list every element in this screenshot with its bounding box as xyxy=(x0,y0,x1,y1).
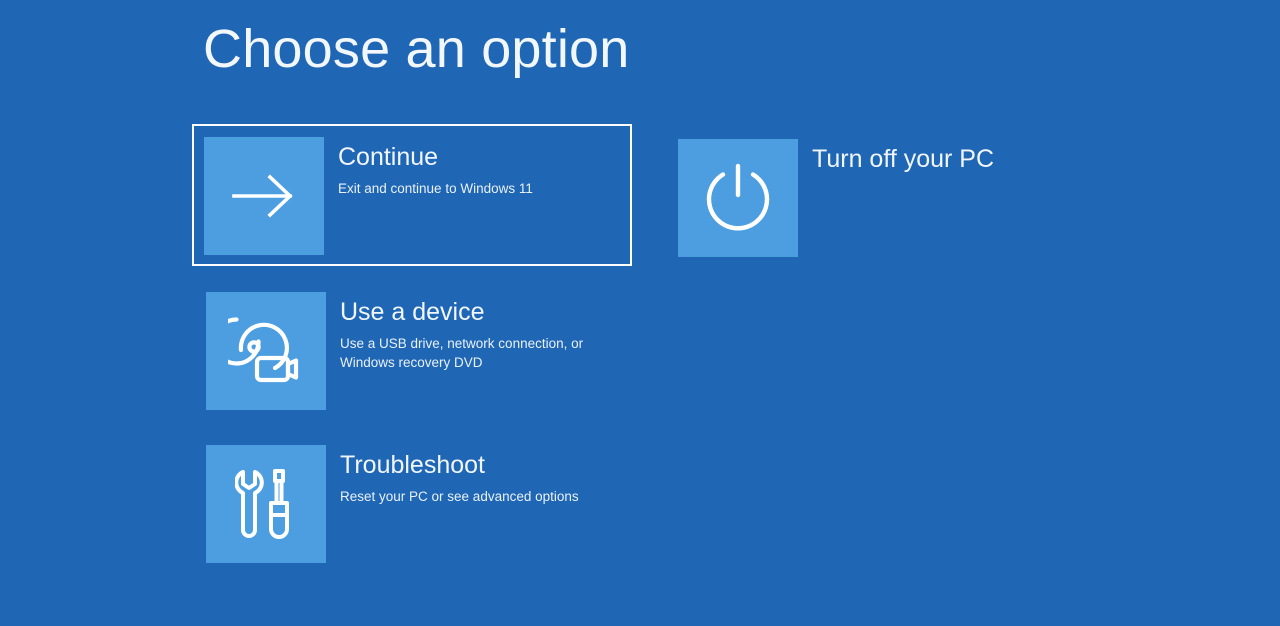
option-troubleshoot-title: Troubleshoot xyxy=(340,451,579,480)
option-troubleshoot[interactable]: Troubleshoot Reset your PC or see advanc… xyxy=(192,430,632,572)
option-troubleshoot-icon-box xyxy=(206,445,326,563)
option-continue-icon-box xyxy=(204,137,324,255)
option-continue[interactable]: Continue Exit and continue to Windows 11 xyxy=(192,124,632,266)
option-use-a-device-content: Use a device Use a USB drive, network co… xyxy=(206,292,620,410)
disc-usb-icon xyxy=(228,314,304,388)
wrench-screwdriver-icon xyxy=(235,466,297,542)
option-turn-off-your-pc-title: Turn off your PC xyxy=(812,145,994,174)
option-turn-off-your-pc[interactable]: Turn off your PC xyxy=(664,124,1104,266)
windows-recovery-choose-option-screen: Choose an option Continue xyxy=(0,0,1280,626)
option-troubleshoot-content: Troubleshoot Reset your PC or see advanc… xyxy=(206,445,579,563)
option-continue-title: Continue xyxy=(338,143,533,172)
option-turn-off-your-pc-text: Turn off your PC xyxy=(812,139,994,174)
option-use-a-device-title: Use a device xyxy=(340,298,620,327)
option-turn-off-your-pc-icon-box xyxy=(678,139,798,257)
page-title: Choose an option xyxy=(203,14,630,84)
option-continue-text: Continue Exit and continue to Windows 11 xyxy=(338,137,533,198)
option-continue-content: Continue Exit and continue to Windows 11 xyxy=(204,137,533,255)
option-use-a-device-subtitle: Use a USB drive, network connection, or … xyxy=(340,334,620,372)
option-use-a-device-icon-box xyxy=(206,292,326,410)
options-left-column: Continue Exit and continue to Windows 11 xyxy=(192,124,632,583)
arrow-right-icon xyxy=(228,172,300,220)
option-troubleshoot-text: Troubleshoot Reset your PC or see advanc… xyxy=(340,445,579,506)
options-right-column: Turn off your PC xyxy=(664,124,1104,266)
option-turn-off-your-pc-content: Turn off your PC xyxy=(678,139,994,257)
power-icon xyxy=(701,160,775,236)
option-use-a-device-text: Use a device Use a USB drive, network co… xyxy=(340,292,620,372)
option-troubleshoot-subtitle: Reset your PC or see advanced options xyxy=(340,487,579,506)
option-continue-subtitle: Exit and continue to Windows 11 xyxy=(338,179,533,198)
option-use-a-device[interactable]: Use a device Use a USB drive, network co… xyxy=(192,277,632,419)
